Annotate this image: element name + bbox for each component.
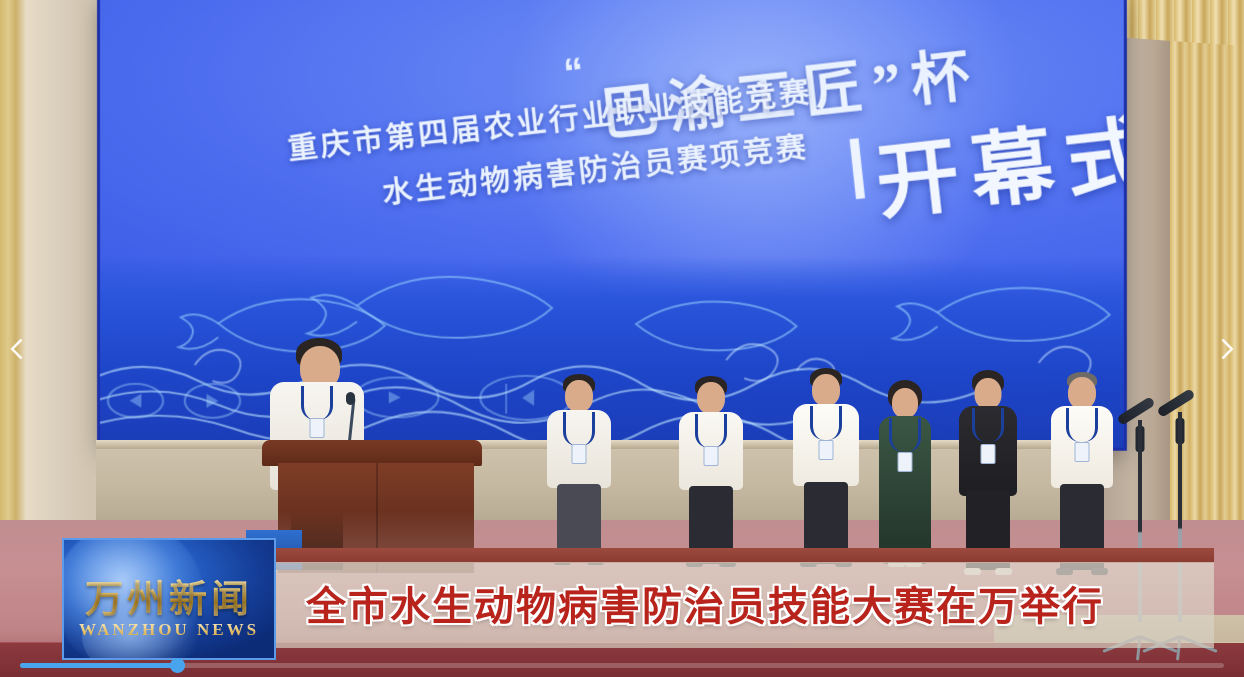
official-2-badge <box>704 446 719 466</box>
official-2-figure <box>672 376 750 562</box>
official-3-figure <box>786 368 866 562</box>
official-1-badge <box>572 444 587 464</box>
official-2-lanyard <box>695 414 727 448</box>
microphone-icon-2 <box>1156 388 1195 418</box>
chevron-left-icon[interactable] <box>4 336 30 362</box>
official-1-head <box>565 380 593 412</box>
official-6-badge <box>1075 442 1090 462</box>
official-3-head <box>812 374 840 406</box>
official-5-lanyard <box>972 408 1004 442</box>
news-headline: 全市水生动物病害防治员技能大赛在万举行 <box>306 574 1104 632</box>
screen-title-divider <box>850 138 866 199</box>
official-4-figure <box>872 380 938 562</box>
screen-quote-mark: “ <box>562 50 583 96</box>
official-2-head <box>697 382 725 414</box>
official-5-head <box>975 378 1002 409</box>
speaker-badge <box>310 418 325 438</box>
official-6-head <box>1068 377 1096 409</box>
channel-logo: 万州新闻 WANZHOU NEWS <box>62 538 276 660</box>
official-6-lanyard <box>1066 408 1098 442</box>
official-5-figure <box>952 370 1024 570</box>
official-5-badge <box>981 444 996 464</box>
progress-handle[interactable] <box>170 658 185 673</box>
channel-logo-name-en: WANZHOU NEWS <box>64 620 274 640</box>
progress-track[interactable] <box>20 663 1224 668</box>
progress-fill <box>20 663 177 668</box>
speaker-lanyard <box>301 386 333 420</box>
official-4-head <box>892 388 918 418</box>
lower-third-accent-bar <box>272 548 1214 563</box>
channel-logo-name-cn: 万州新闻 <box>64 568 274 623</box>
official-1-lanyard <box>563 412 595 446</box>
official-1-figure <box>540 374 618 560</box>
video-progress-bar[interactable] <box>20 658 1224 672</box>
official-3-lanyard <box>810 406 842 440</box>
official-4-lanyard <box>889 418 921 452</box>
chevron-right-icon[interactable] <box>1214 336 1240 362</box>
official-3-badge <box>819 440 834 460</box>
official-4-badge <box>898 452 913 472</box>
podium-microphone-icon <box>346 392 355 405</box>
video-player-frame: “ 巴渝工匠”杯 重庆市第四届农业行业职业技能竞赛 水生动物病害防治员赛项竞赛 … <box>0 0 1244 677</box>
